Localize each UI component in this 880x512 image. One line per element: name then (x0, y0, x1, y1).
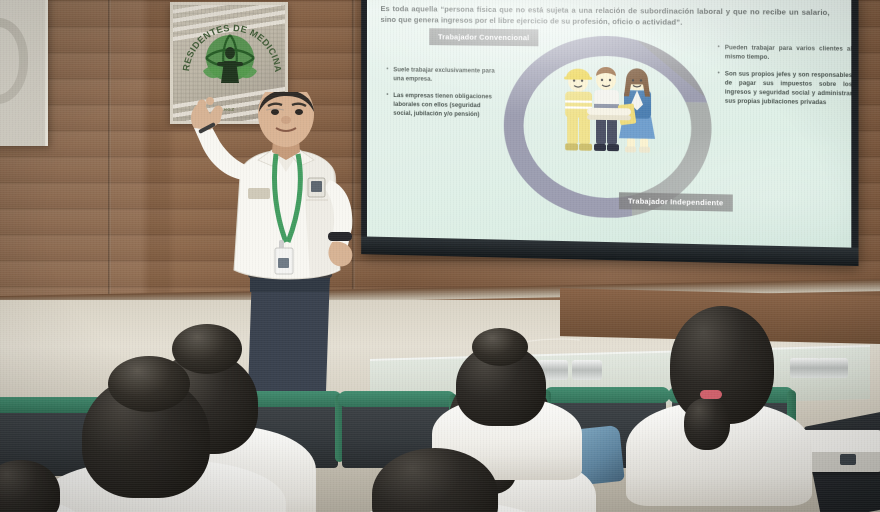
slide-bullet-text: Las empresas tienen obligaciones laboral… (393, 91, 496, 120)
hair-bun (108, 356, 190, 412)
auditorium-photo: RESIDENTES DE MEDICINA FAMILIAR HGZ Es t… (0, 0, 880, 512)
ponytail (684, 398, 730, 450)
projector-lens-icon (840, 454, 856, 465)
slide-surface: Es toda aquella “persona física que no e… (367, 0, 851, 248)
slide-lead-paragraph: Es toda aquella “persona física que no e… (381, 4, 830, 30)
slide-left-column: • Suele trabajar exclusivamente para una… (386, 65, 496, 128)
hair (0, 460, 60, 512)
hair (372, 448, 498, 512)
bullet-marker-icon: • (718, 43, 720, 61)
three-workers-clipart-icon (561, 57, 657, 176)
metal-cannister (818, 358, 848, 378)
attendee (626, 306, 812, 486)
slide-bullet-text: Pueden trabajar para varios clientes al … (725, 43, 851, 63)
slide-tag-independent: Trabajador Independiente (619, 192, 733, 211)
slide-bullet: • Son sus propios jefes y son responsabl… (718, 69, 852, 108)
attendee (56, 362, 264, 512)
slide-right-column: • Pueden trabajar para varios clientes a… (718, 43, 852, 116)
attendee (0, 460, 72, 512)
slide-bullet-text: Son sus propios jefes y son responsables… (725, 69, 851, 108)
slide-content: Es toda aquella “persona física que no e… (367, 0, 851, 248)
hair-tie (700, 390, 722, 399)
poster-glyph-icon (0, 18, 28, 104)
projection-screen: Es toda aquella “persona física que no e… (361, 0, 858, 266)
slide-bullet: • Suele trabajar exclusivamente para una… (386, 65, 496, 84)
slide-bullet: • Las empresas tienen obligaciones labor… (386, 91, 496, 120)
green-globe-doctor-logo-icon (197, 31, 263, 93)
projector (800, 430, 880, 472)
hair-bun (472, 328, 528, 366)
attendee (446, 332, 566, 452)
slide-bullet-text: Suele trabajar exclusivamente para una e… (393, 65, 496, 84)
attendee (356, 448, 536, 512)
left-wall-poster (0, 0, 48, 146)
bullet-marker-icon: • (386, 65, 388, 83)
bullet-marker-icon: • (718, 69, 720, 106)
slide-body: Trabajador Convencional Trabajador Indep… (381, 31, 839, 224)
ring-diagram (504, 35, 712, 220)
slide-tag-conventional: Trabajador Convencional (429, 28, 538, 46)
slide-bullet: • Pueden trabajar para varios clientes a… (718, 43, 852, 63)
